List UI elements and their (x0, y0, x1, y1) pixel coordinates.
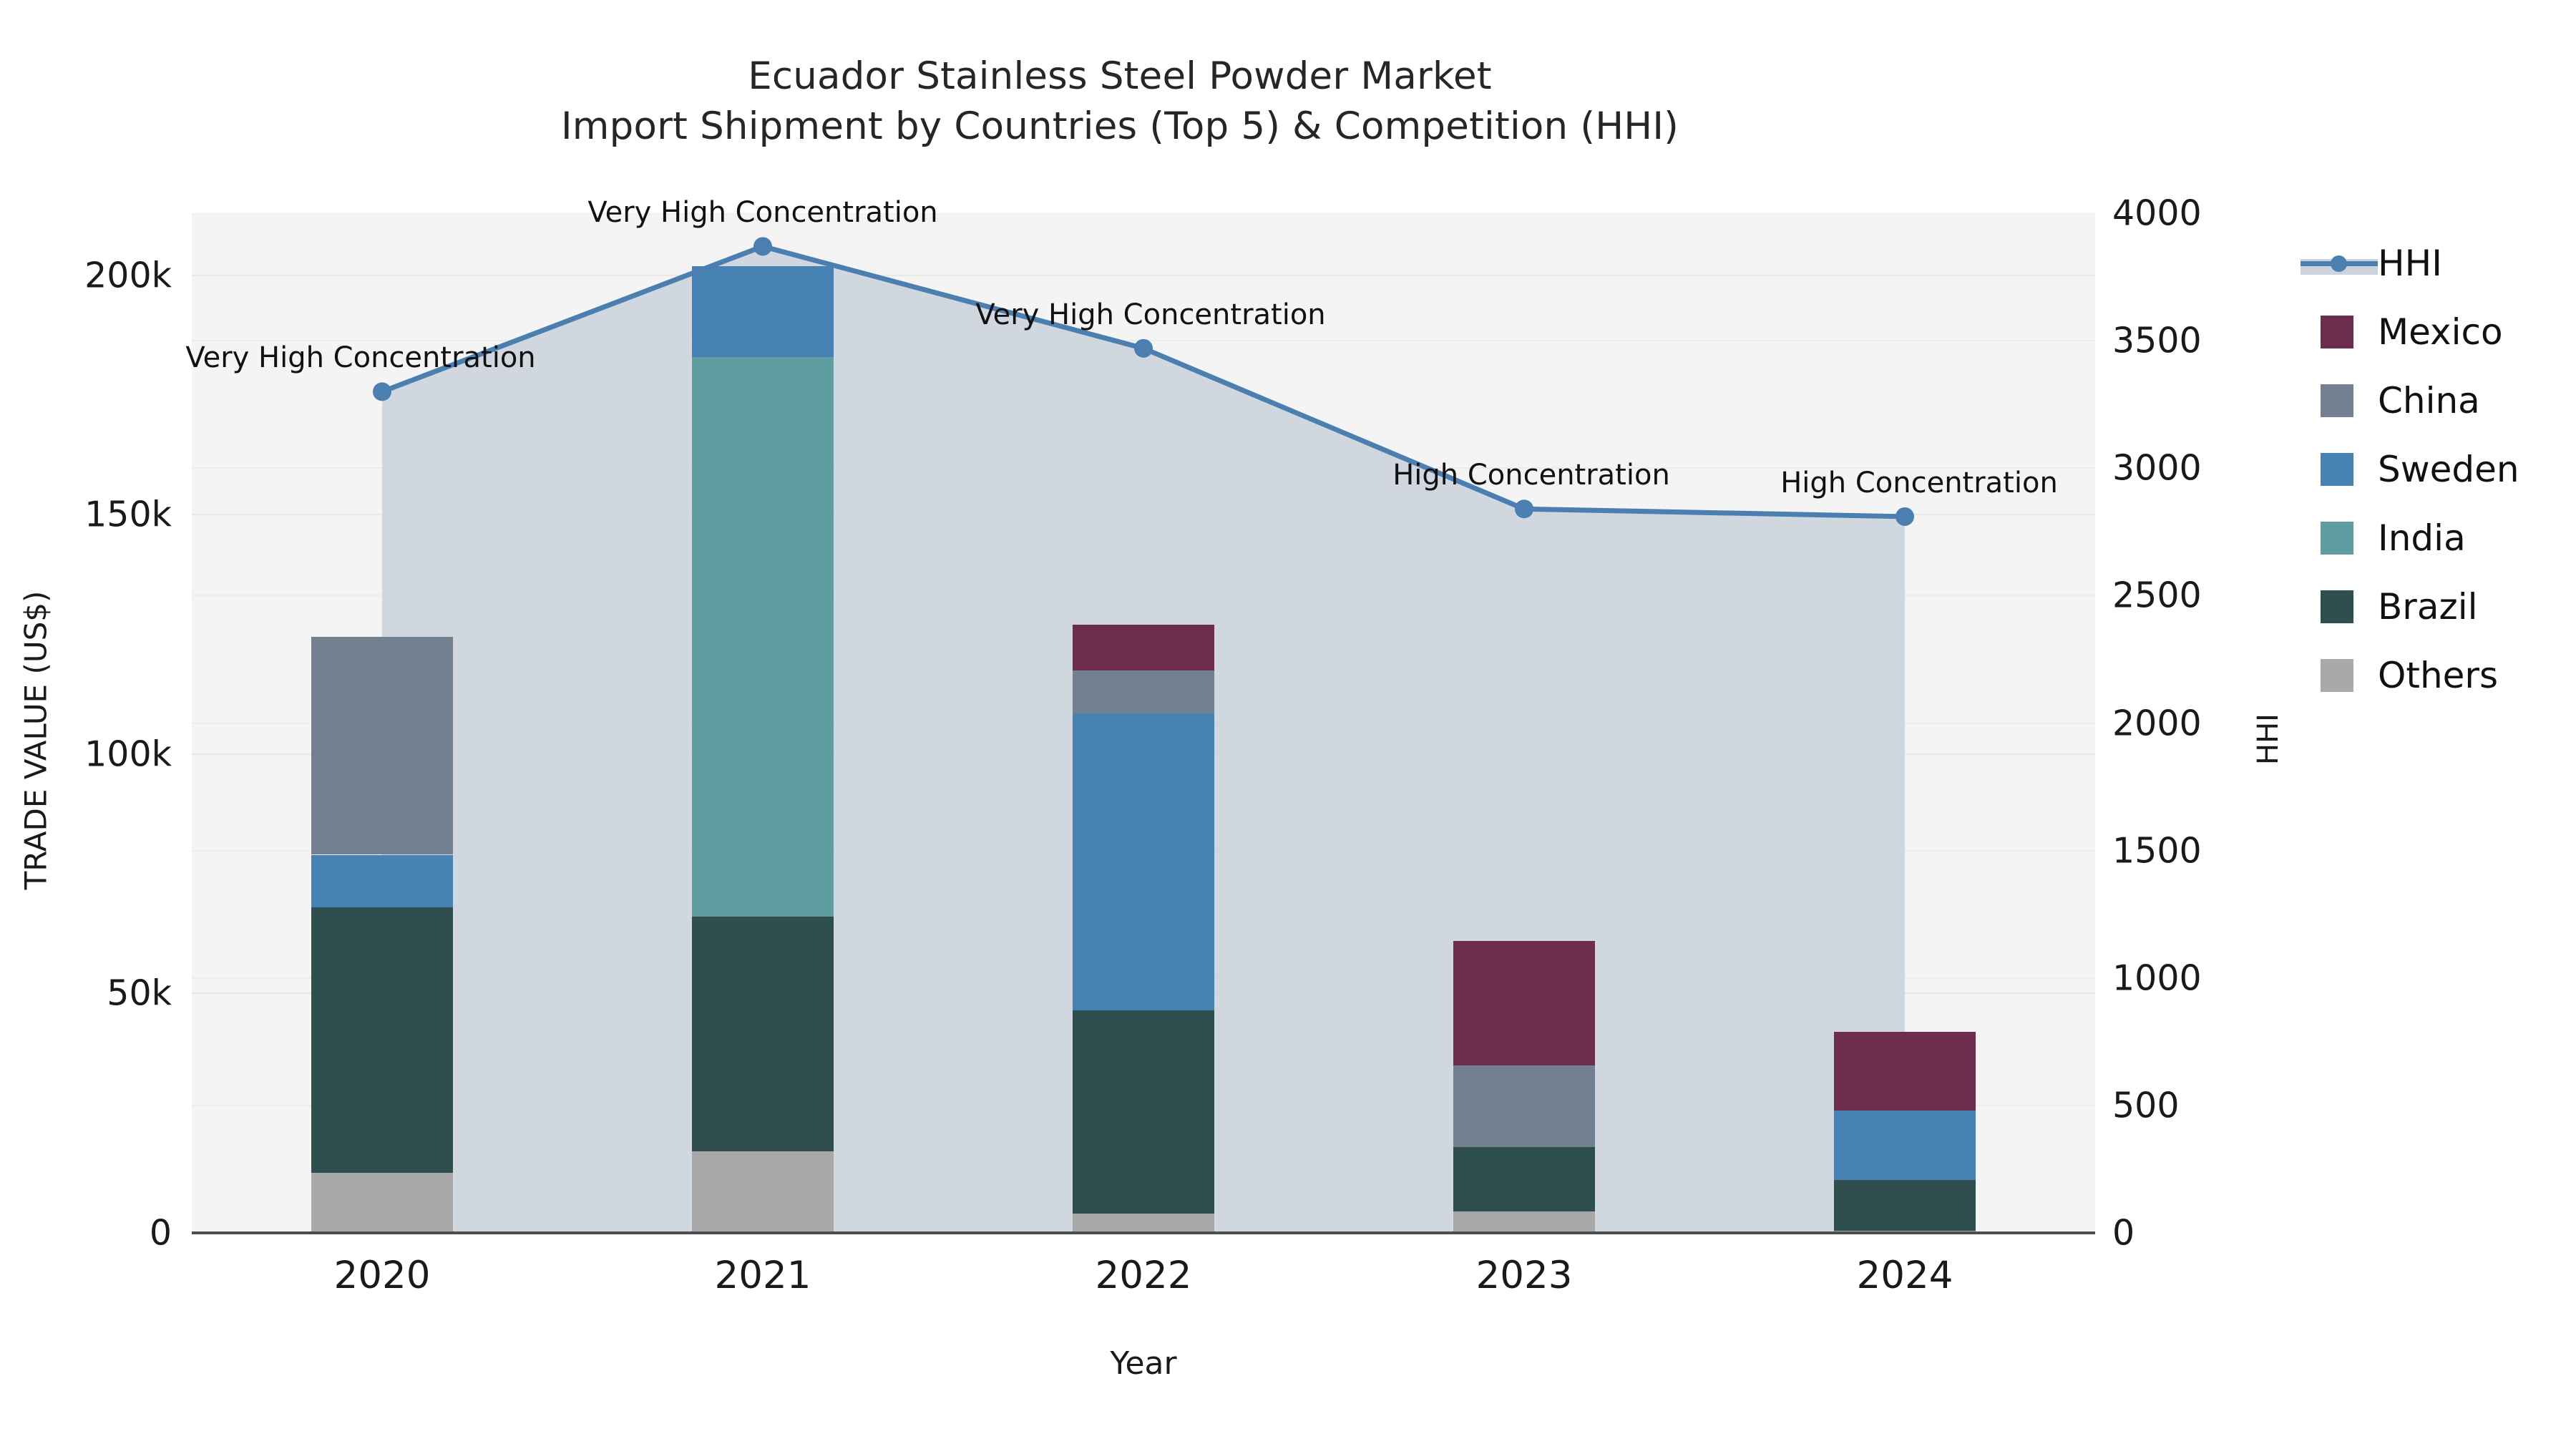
legend-swatch-icon (2321, 316, 2353, 348)
y-axis-secondary-label: HHI (2252, 632, 2285, 847)
y-tick-primary: 200k (0, 255, 172, 296)
y-axis-primary-label: TRADE VALUE (US$) (19, 490, 54, 991)
bar-segment-sweden[interactable] (692, 266, 834, 357)
chart-legend: HHIMexicoChinaSwedenIndiaBrazilOthers (2301, 229, 2572, 710)
y-tick-secondary: 1000 (2112, 957, 2263, 998)
plot-area: Very High ConcentrationVery High Concent… (192, 213, 2095, 1233)
bar-segment-others[interactable] (311, 1173, 453, 1233)
legend-item-mexico[interactable]: Mexico (2301, 298, 2572, 366)
bar-segment-others[interactable] (692, 1151, 834, 1233)
hhi-annotation: High Concentration (1780, 467, 2058, 499)
legend-item-china[interactable]: China (2301, 366, 2572, 435)
bar-segment-mexico[interactable] (1453, 941, 1595, 1065)
hhi-annotation: High Concentration (1392, 459, 1670, 492)
x-tick-2020: 2020 (239, 1254, 525, 1297)
legend-item-brazil[interactable]: Brazil (2301, 572, 2572, 641)
legend-label: China (2378, 380, 2480, 421)
legend-swatch-icon (2321, 522, 2353, 555)
hhi-annotation: Very High Concentration (975, 298, 1325, 331)
y-tick-secondary: 4000 (2112, 193, 2263, 234)
y-tick-secondary: 3000 (2112, 448, 2263, 489)
y-tick-primary: 0 (0, 1213, 172, 1254)
bar-segment-brazil[interactable] (1834, 1180, 1976, 1230)
legend-item-india[interactable]: India (2301, 504, 2572, 572)
bar-segment-mexico[interactable] (1073, 625, 1214, 670)
y-tick-secondary: 0 (2112, 1213, 2263, 1254)
legend-label: HHI (2378, 243, 2442, 284)
x-axis-baseline (192, 1231, 2095, 1234)
bar-segment-sweden[interactable] (311, 855, 453, 908)
bar-stack[interactable] (692, 213, 834, 1233)
bar-stack[interactable] (1073, 213, 1214, 1233)
bar-segment-sweden[interactable] (1073, 713, 1214, 1010)
y-tick-secondary: 3500 (2112, 321, 2263, 361)
bar-segment-india[interactable] (692, 357, 834, 917)
legend-item-sweden[interactable]: Sweden (2301, 435, 2572, 504)
bar-stack[interactable] (1834, 213, 1976, 1233)
bar-segment-brazil[interactable] (311, 907, 453, 1173)
legend-label: Sweden (2378, 449, 2519, 490)
bar-segment-china[interactable] (1453, 1065, 1595, 1147)
x-tick-2023: 2023 (1381, 1254, 1667, 1297)
bar-segment-brazil[interactable] (1453, 1147, 1595, 1211)
y-tick-secondary: 2000 (2112, 703, 2263, 743)
bar-segment-brazil[interactable] (1073, 1010, 1214, 1214)
hhi-annotation: Very High Concentration (587, 196, 937, 229)
hhi-annotation: Very High Concentration (185, 341, 535, 374)
bar-segment-mexico[interactable] (1834, 1032, 1976, 1111)
x-axis-label: Year (192, 1345, 2095, 1382)
chart-title-line1: Ecuador Stainless Steel Powder Market (748, 54, 1492, 98)
legend-label: India (2378, 517, 2466, 559)
y-tick-secondary: 1500 (2112, 830, 2263, 871)
x-tick-2022: 2022 (1000, 1254, 1287, 1297)
bar-segment-china[interactable] (311, 637, 453, 854)
chart-title: Ecuador Stainless Steel Powder MarketImp… (0, 52, 2240, 152)
legend-item-others[interactable]: Others (2301, 641, 2572, 710)
y-tick-secondary: 500 (2112, 1085, 2263, 1126)
bar-segment-others[interactable] (1073, 1214, 1214, 1233)
legend-swatch-icon (2321, 453, 2353, 486)
bar-segment-sweden[interactable] (1834, 1111, 1976, 1180)
legend-swatch-icon (2321, 384, 2353, 417)
x-tick-2021: 2021 (620, 1254, 906, 1297)
x-tick-2024: 2024 (1762, 1254, 2048, 1297)
legend-swatch-icon (2321, 590, 2353, 623)
legend-label: Brazil (2378, 586, 2478, 628)
legend-line-icon (2301, 247, 2378, 280)
bar-segment-china[interactable] (1073, 670, 1214, 713)
legend-label: Mexico (2378, 311, 2503, 353)
legend-item-hhi[interactable]: HHI (2301, 229, 2572, 298)
bar-segment-others[interactable] (1453, 1211, 1595, 1233)
bar-segment-brazil[interactable] (692, 917, 834, 1151)
legend-swatch-icon (2321, 659, 2353, 692)
bar-stack[interactable] (1453, 213, 1595, 1233)
y-tick-secondary: 2500 (2112, 575, 2263, 616)
legend-label: Others (2378, 655, 2498, 696)
chart-title-line2: Import Shipment by Countries (Top 5) & C… (561, 104, 1679, 148)
